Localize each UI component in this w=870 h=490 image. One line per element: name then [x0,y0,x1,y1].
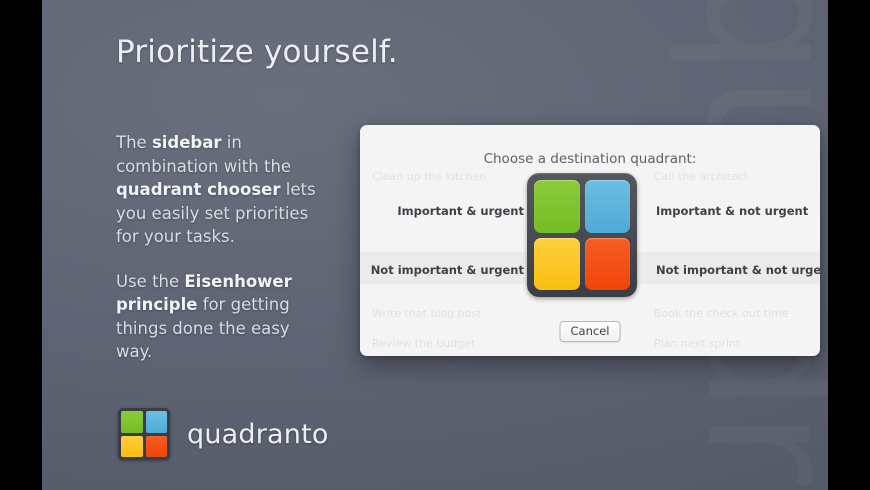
quadrant-label-not-important-not-urgent: Not important & not urgent [656,263,820,277]
ghost-task-right: Call the architect [654,170,748,183]
slide-backdrop: quadranto Prioritize yourself. The sideb… [42,0,828,490]
logo-tile-red [146,436,168,458]
ghost-task-right: Plan next sprint [654,337,740,350]
quadrant-tile-important-urgent[interactable] [534,180,580,233]
logo-tile-blue [146,411,168,433]
brand-lockup: quadranto [118,408,329,460]
quadrant-tile-not-important-urgent[interactable] [534,238,580,291]
quadrant-tile-important-not-urgent[interactable] [585,180,631,233]
emphasis-sidebar: sidebar [152,133,222,152]
emphasis-quadrant-chooser: quadrant chooser [116,180,281,199]
quadrant-label-not-important-urgent: Not important & urgent [371,263,524,277]
quadrant-label-important-not-urgent: Important & not urgent [656,204,808,218]
text-fragment: Use the [116,272,184,291]
ghost-task-left: Review the budget [372,337,568,350]
letterbox-bar-left [0,0,42,490]
logo-tile-yellow [121,436,143,458]
body-paragraph-1: The sidebar in combination with the quad… [116,131,331,249]
quadrant-chooser-grid[interactable] [527,173,637,297]
page-title: Prioritize yourself. [116,34,398,70]
quadrant-tile-not-important-not-urgent[interactable] [585,238,631,291]
ghost-task-left: Write that blog post [372,307,568,320]
quadrant-label-important-urgent: Important & urgent [397,204,524,218]
text-fragment: The [116,133,152,152]
ghost-task-right: Book the check out time [654,307,789,320]
dialog-title: Choose a destination quadrant: [360,151,820,167]
cancel-button[interactable]: Cancel [560,321,621,342]
app-logo-icon [118,408,170,460]
letterbox-bar-right [828,0,870,490]
body-paragraph-2: Use the Eisenhower principle for getting… [116,270,331,364]
body-copy: The sidebar in combination with the quad… [116,131,331,364]
logo-tile-green [121,411,143,433]
quadrant-chooser-dialog: Clean up the kitchen Call the architect … [360,125,820,356]
brand-name: quadranto [187,419,329,450]
slide-stage: quadranto Prioritize yourself. The sideb… [0,0,870,490]
